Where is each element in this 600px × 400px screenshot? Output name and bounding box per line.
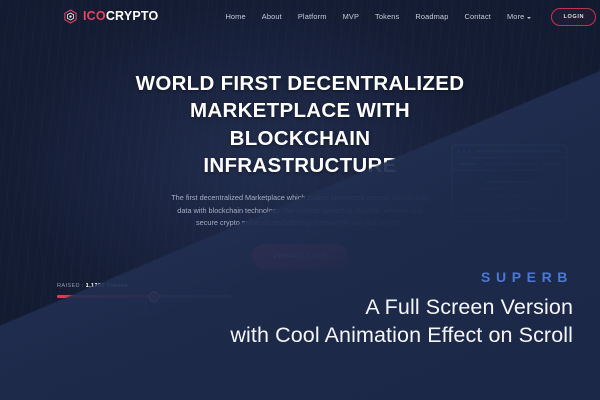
raised-progress-track[interactable]: SOFT CAP [57, 295, 233, 298]
ghost-footer-social-icons: f t g in [482, 372, 540, 379]
softcap-tick [145, 299, 146, 312]
raised-progress-fill [57, 295, 154, 298]
brand-wordmark: ICOCRYPTO [83, 10, 158, 23]
promo-kicker: SUPERB [230, 270, 573, 284]
nav-item-home[interactable]: Home [217, 8, 253, 25]
token-raised-block: RAISED : 1,1250 Tokens SOFT CAP [57, 283, 233, 298]
nav-item-roadmap[interactable]: Roadmap [407, 8, 456, 25]
brand-name-primary: ICO [83, 9, 106, 23]
promo-overlay-text: SUPERB A Full Screen Version with Cool A… [230, 270, 573, 350]
login-button[interactable]: LOGIN [551, 8, 596, 26]
nav-item-about[interactable]: About [254, 8, 290, 25]
raised-label-prefix: RAISED : [57, 283, 84, 289]
nav-item-more-label: More [507, 12, 524, 21]
page-root: ICOCRYPTO Home About Platform MVP Tokens… [0, 0, 600, 400]
promo-line-2: with Cool Animation Effect on Scroll [230, 321, 573, 349]
hero-headline: WORLD FIRST DECENTRALIZED MARKETPLACE WI… [135, 70, 465, 179]
nav-item-platform[interactable]: Platform [290, 8, 335, 25]
main-navigation: Home About Platform MVP Tokens Roadmap C… [217, 8, 596, 26]
brand-name-secondary: CRYPTO [106, 9, 159, 23]
chevron-down-icon [527, 17, 531, 19]
nav-item-contact[interactable]: Contact [456, 8, 499, 25]
ghost-footer-copyright: Copyright 2018 [60, 372, 101, 379]
nav-item-tokens[interactable]: Tokens [367, 8, 407, 25]
brand-logo[interactable]: ICOCRYPTO [63, 9, 158, 24]
promo-line-1: A Full Screen Version [230, 293, 573, 321]
nav-item-mvp[interactable]: MVP [335, 8, 367, 25]
hero-subcopy: The first decentralized Marketplace whic… [166, 192, 434, 230]
softcap-label: SOFT CAP [132, 313, 160, 318]
ghost-footer: Copyright 2018 All Rights Reserved f t g… [60, 372, 540, 379]
browser-window-wireframe-icon [451, 144, 568, 222]
raised-progress-handle[interactable] [148, 291, 159, 302]
hero-cta-wrapper: PRIVATE SALE [0, 244, 600, 269]
raised-amount: 1,1250 Tokens [86, 283, 128, 289]
ghost-footer-rights: All Rights Reserved [265, 372, 318, 379]
site-header: ICOCRYPTO Home About Platform MVP Tokens… [0, 0, 600, 33]
nav-item-more[interactable]: More [499, 8, 539, 25]
hexagon-logo-icon [63, 9, 78, 24]
private-sale-button[interactable]: PRIVATE SALE [252, 244, 349, 269]
raised-label: RAISED : 1,1250 Tokens [57, 283, 233, 289]
